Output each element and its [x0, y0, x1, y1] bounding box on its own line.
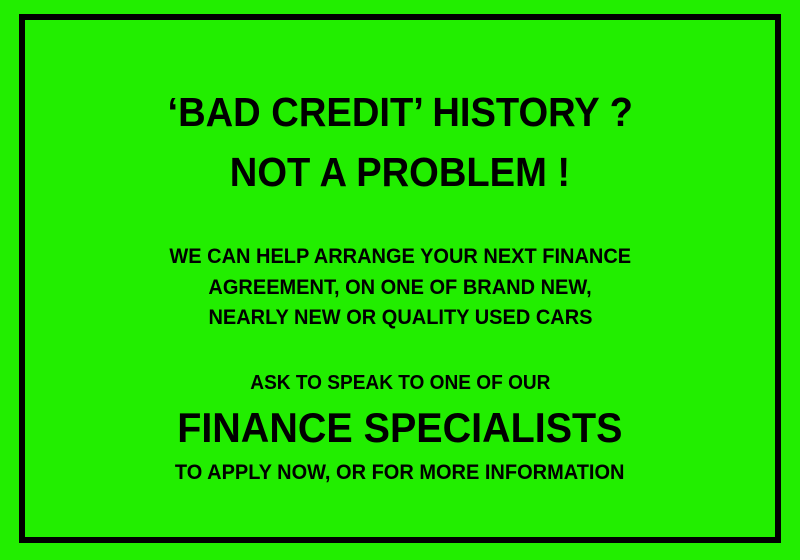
cta-lead-text: ASK TO SPEAK TO ONE OF OUR [250, 373, 550, 394]
body-line-1: WE CAN HELP ARRANGE YOUR NEXT FINANCE [169, 246, 631, 268]
body-line-3: NEARLY NEW OR QUALITY USED CARS [208, 307, 592, 329]
cta-headline-text: FINANCE SPECIALISTS [177, 407, 622, 449]
headline-line-2: NOT A PROBLEM ! [230, 152, 570, 193]
headline-line-1: ‘BAD CREDIT’ HISTORY ? [167, 92, 632, 133]
cta-tail-text: TO APPLY NOW, OR FOR MORE INFORMATION [175, 462, 625, 484]
body-line-2: AGREEMENT, ON ONE OF BRAND NEW, [208, 277, 591, 299]
advert-poster: ‘BAD CREDIT’ HISTORY ? NOT A PROBLEM ! W… [0, 0, 800, 560]
poster-content: ‘BAD CREDIT’ HISTORY ? NOT A PROBLEM ! W… [19, 14, 781, 543]
